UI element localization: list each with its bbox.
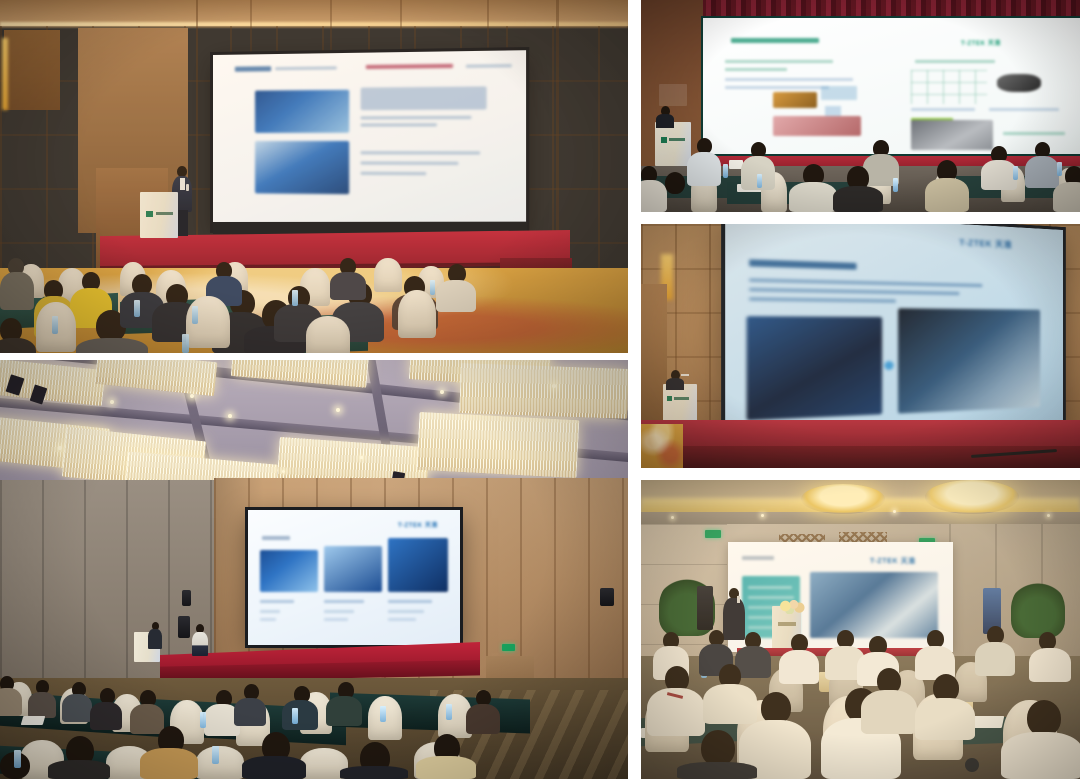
slide-caption-1 <box>260 600 294 603</box>
exit-sign <box>502 644 515 651</box>
slide-title <box>742 556 774 560</box>
slide-body-3 <box>749 297 896 302</box>
panel-bottom-left[interactable]: T-ZTEK 天准 <box>0 360 628 779</box>
ring-chandelier <box>925 480 1019 514</box>
slide-brand-mark: T-ZTEK 天准 <box>961 38 1001 47</box>
chandelier <box>417 412 580 478</box>
exit-sign[interactable] <box>705 530 721 538</box>
audience-body <box>915 698 975 740</box>
slide-box-2 <box>825 106 841 116</box>
slide-box-1 <box>821 86 857 100</box>
lectern-logo <box>667 396 672 401</box>
slide-title <box>731 38 819 43</box>
audience-body <box>703 684 757 724</box>
audience-body <box>687 152 721 186</box>
slide-photo-3 <box>388 538 448 592</box>
water-bottle <box>52 316 58 334</box>
water-bottle <box>723 164 728 178</box>
audience-body <box>0 688 22 716</box>
slide-brand-mark: T-ZTEK 天准 <box>870 556 916 566</box>
audience-body <box>90 702 122 730</box>
speaker-cabinet-right <box>600 588 614 606</box>
slide-title <box>749 259 856 269</box>
slide-textline-2c <box>361 172 426 175</box>
water-bottle <box>1057 162 1062 176</box>
audience-body <box>62 694 92 722</box>
slide-bullet-1 <box>725 60 833 63</box>
water-bottle <box>380 706 386 722</box>
audience-body <box>326 696 362 726</box>
scene-blue-screen-lectern: T-ZTEK 天准 <box>641 224 1080 468</box>
speaker-cabinet <box>178 616 190 638</box>
slide-right-caption <box>915 60 995 63</box>
audience-body <box>1029 648 1071 682</box>
audience-body <box>330 272 366 300</box>
slide-photo-1 <box>255 90 349 133</box>
wall-seam-5 <box>487 0 489 58</box>
slide-photo-2 <box>324 546 382 592</box>
audience-body <box>833 186 883 212</box>
slide-textblock-1 <box>361 86 487 110</box>
audience-head <box>1027 700 1061 736</box>
slide-photo-arrow <box>997 74 1041 92</box>
slide-caption-2 <box>324 600 364 603</box>
chandelier <box>459 363 628 419</box>
slide-section-title <box>262 536 290 540</box>
floral-arrangement <box>777 598 805 614</box>
ceiling-spotlight <box>228 414 232 418</box>
slide-handshake-photo <box>810 572 938 638</box>
badge <box>965 758 979 772</box>
speaker-microphone <box>681 374 689 376</box>
carpet-strip <box>641 424 683 468</box>
slide-body-2 <box>324 610 354 613</box>
audience-head <box>701 730 735 766</box>
photo-collage: T-ZTEK 天准 <box>0 0 1080 779</box>
slide-body-2 <box>725 86 829 89</box>
speaker-body <box>656 114 674 128</box>
audience-body <box>28 692 56 718</box>
notepad <box>21 716 46 725</box>
podium-logo-text <box>156 212 173 215</box>
wall-seam-1 <box>196 0 198 240</box>
stage-edge-shadow <box>641 446 1080 468</box>
slide-right-body-1 <box>911 108 975 111</box>
lectern-logo <box>661 137 667 143</box>
water-bottle <box>292 290 298 306</box>
slide-brand-mark: T-ZTEK 天准 <box>398 520 438 529</box>
speaker-stack <box>697 586 713 630</box>
wall-panel-seam <box>659 84 687 106</box>
ceiling-spotlight <box>282 470 285 473</box>
slide-header-text-2 <box>466 64 512 67</box>
slide-right-caption-2 <box>1003 132 1065 135</box>
scene-warm-conference-room: T-ZTEK 天准 <box>641 480 1080 779</box>
audience-body <box>925 178 969 212</box>
slide-photo-right <box>911 120 993 150</box>
slide-header-accent-2 <box>366 64 453 69</box>
audience-body <box>466 704 500 734</box>
speaker-microphone <box>737 596 740 603</box>
slide-photo-right <box>898 308 1040 413</box>
slide-body-5 <box>324 618 348 621</box>
presenter-shirt <box>180 178 185 190</box>
water-bottle <box>893 178 898 192</box>
ceiling-spotlight <box>58 446 62 450</box>
slide-body-2 <box>749 288 959 295</box>
ceiling-spotlight <box>336 408 340 412</box>
water-bottle <box>182 334 189 353</box>
podium-logo <box>146 211 153 217</box>
water-bottle <box>757 174 762 188</box>
audience-body <box>436 280 476 312</box>
slide-body-1 <box>749 278 982 286</box>
audience-body <box>641 180 667 212</box>
slide-body-6 <box>388 618 416 621</box>
ceiling-downlight <box>1047 514 1050 517</box>
slide-diagram-lower <box>773 116 861 136</box>
assistant-body <box>148 629 162 649</box>
audience-body <box>1001 732 1080 779</box>
slide-header-accent-1 <box>235 66 271 71</box>
audience-body <box>416 756 476 779</box>
slide-textline-1a <box>361 116 472 119</box>
water-bottle <box>14 750 21 768</box>
slide-body-1 <box>725 78 853 81</box>
ceiling-spotlight <box>552 384 556 388</box>
audience-body <box>340 766 408 779</box>
water-bottle <box>1013 166 1018 180</box>
ceiling-spotlight <box>190 394 194 398</box>
potted-palm <box>1011 580 1065 638</box>
ceiling-downlight <box>761 514 764 517</box>
speaker-body <box>666 378 684 390</box>
carved-wood-panel-left <box>4 30 60 110</box>
chair <box>306 316 350 353</box>
slide-photo-left <box>747 316 883 420</box>
speaker-cabinet-wall <box>182 590 191 606</box>
water-bottle <box>134 300 140 317</box>
water-bottle <box>292 708 298 724</box>
slide-body-3 <box>388 610 424 613</box>
audience-body <box>975 642 1015 676</box>
audience-body <box>677 762 757 779</box>
slide-brand-mark: T-ZTEK 天准 <box>959 237 1012 251</box>
slide-textline-1b <box>361 123 437 126</box>
audience-body <box>981 160 1017 190</box>
ceiling-downlight <box>671 516 674 519</box>
audience-body <box>1053 182 1080 212</box>
lectern-logo-text <box>669 138 685 141</box>
slide-photo-2 <box>255 141 349 194</box>
audience-body <box>76 338 148 353</box>
water-bottle <box>446 704 452 720</box>
ring-chandelier <box>801 484 885 514</box>
slide-textline-2a <box>361 151 480 154</box>
lectern-logo-text <box>674 397 689 400</box>
slide-right-body-2 <box>989 108 1059 111</box>
ceiling-spotlight <box>110 400 114 404</box>
audience-body <box>0 272 34 310</box>
scene-auditorium-green-slide: T-ZTEK 天准 <box>641 0 1080 212</box>
ceiling-spotlight <box>360 456 363 459</box>
audience-body <box>242 756 306 779</box>
slide-header-text <box>275 66 337 69</box>
presenter-body <box>192 632 208 656</box>
audience-body <box>234 698 266 726</box>
audience-body <box>48 760 110 779</box>
audience-body <box>282 700 318 730</box>
led-screen[interactable]: T-ZTEK 天准 <box>248 510 460 645</box>
audience-body <box>1025 156 1059 188</box>
slide-body-1 <box>260 610 280 613</box>
led-screen[interactable]: T-ZTEK 天准 <box>703 18 1080 154</box>
panel-right-bottom[interactable]: T-ZTEK 天准 <box>641 480 1080 779</box>
slide-bullet-2 <box>725 68 787 71</box>
audience-body <box>130 704 164 734</box>
slide-node-graph <box>911 70 987 104</box>
led-screen[interactable]: T-ZTEK 天准 <box>725 224 1063 445</box>
slide-textline-2b <box>361 161 459 164</box>
ceiling-spotlight <box>440 390 444 394</box>
slide-caption-3 <box>388 600 432 603</box>
audience-body <box>140 748 198 779</box>
speaker-body <box>723 598 745 640</box>
slide-diagram-left <box>773 92 817 108</box>
water-bottle <box>212 746 219 764</box>
water-bottle <box>200 712 206 728</box>
slide-teal-line-1 <box>748 586 792 589</box>
led-screen[interactable] <box>213 50 526 235</box>
scene-ballroom-presenter <box>0 0 628 353</box>
ceiling-downlight <box>893 510 896 513</box>
lectern <box>655 122 691 166</box>
panel-right-top[interactable]: T-ZTEK 天准 <box>641 0 1080 212</box>
chair <box>196 746 244 779</box>
audience-head <box>665 172 685 194</box>
water-bottle <box>430 280 435 295</box>
audience-body <box>779 650 819 684</box>
presenter-microphone <box>186 184 189 191</box>
audience-body <box>861 690 917 734</box>
panel-right-middle[interactable]: T-ZTEK 天准 <box>641 224 1080 468</box>
audience-body <box>789 182 837 212</box>
amber-lamp-left <box>2 38 8 110</box>
panel-top-left[interactable] <box>0 0 628 353</box>
chair <box>374 258 402 292</box>
slide-connector-dot <box>884 361 893 370</box>
scene-ballroom-wide: T-ZTEK 天准 <box>0 360 628 779</box>
lectern-logo-text <box>778 622 796 626</box>
slide-photo-1 <box>260 550 318 592</box>
chair <box>398 290 436 338</box>
water-bottle <box>192 306 198 324</box>
slide-body-4 <box>260 618 276 621</box>
